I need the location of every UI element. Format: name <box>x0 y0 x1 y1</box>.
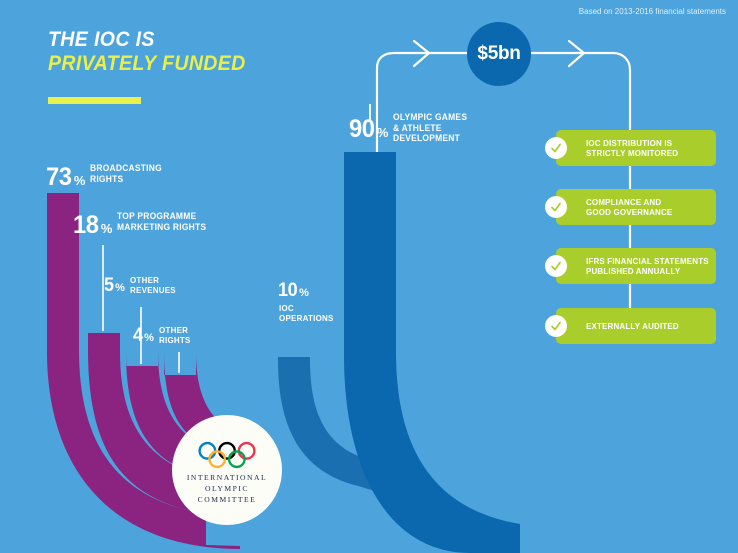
callout-broadcasting-rights: 73%BROADCASTINGRIGHTS <box>46 163 167 192</box>
total-revenue-label: $5bn <box>477 43 520 65</box>
bar-olympic-games-athlete-development <box>344 152 520 553</box>
percent-sign: % <box>101 221 113 236</box>
governance-item-label: IOC DISTRIBUTION IS STRICTLY MONITORED <box>586 138 678 159</box>
callout-ioc-operations: 10%IOCOPERATIONS <box>278 280 337 323</box>
callout-olympic-games-athlete-development: 90%OLYMPIC GAMES& ATHLETEDEVELOPMENT <box>349 112 472 144</box>
value-5: 5 <box>104 275 114 297</box>
label-line-2: REVENUES <box>130 285 176 295</box>
logo-line-3: COMMITTEE <box>198 495 257 504</box>
label-other-rights: OTHERRIGHTS <box>159 325 191 345</box>
value-18: 18 <box>73 211 98 240</box>
callout-other-rights: 4%OTHERRIGHTS <box>133 325 192 347</box>
value-10: 10 <box>278 280 297 302</box>
percent-sign: % <box>377 125 389 140</box>
governance-item-ifrs-statements[interactable]: IFRS FINANCIAL STATEMENTS PUBLISHED ANNU… <box>556 248 716 284</box>
label-ioc-operations: IOCOPERATIONS <box>279 303 334 323</box>
governance-item-label: COMPLIANCE AND GOOD GOVERNANCE <box>586 197 672 218</box>
callout-top-programme-marketing-rights: 18%TOP PROGRAMMEMARKETING RIGHTS <box>73 211 212 240</box>
label-line-2: GOOD GOVERNANCE <box>586 207 672 217</box>
check-icon <box>545 255 567 277</box>
governance-item-ioc-distribution[interactable]: IOC DISTRIBUTION IS STRICTLY MONITORED <box>556 130 716 166</box>
governance-item-label: EXTERNALLY AUDITED <box>586 321 679 332</box>
olympic-rings-icon <box>196 439 258 471</box>
ioc-logo: INTERNATIONAL OLYMPIC COMMITTEE <box>172 415 282 525</box>
label-line-1: BROADCASTING <box>90 163 162 173</box>
label-line-2: RIGHTS <box>90 174 123 184</box>
check-icon <box>545 196 567 218</box>
value-73: 73 <box>46 163 71 192</box>
label-top-programme-marketing-rights: TOP PROGRAMMEMARKETING RIGHTS <box>117 211 206 232</box>
governance-item-label: IFRS FINANCIAL STATEMENTS PUBLISHED ANNU… <box>586 256 709 277</box>
label-line-1: OLYMPIC GAMES <box>393 112 467 122</box>
label-other-revenues: OTHERREVENUES <box>130 275 176 295</box>
callout-other-revenues: 5%OTHERREVENUES <box>104 275 179 297</box>
label-line-2: PUBLISHED ANNUALLY <box>586 266 680 276</box>
logo-line-1: INTERNATIONAL <box>187 473 267 482</box>
label-line-1: IFRS FINANCIAL STATEMENTS <box>586 256 709 266</box>
label-line-1: OTHER <box>130 275 159 285</box>
percent-sign: % <box>144 332 154 344</box>
value-4: 4 <box>133 325 143 347</box>
label-line-2: OPERATIONS <box>279 313 334 323</box>
governance-item-compliance[interactable]: COMPLIANCE AND GOOD GOVERNANCE <box>556 189 716 225</box>
check-icon <box>545 137 567 159</box>
percent-sign: % <box>299 287 309 299</box>
value-90: 90 <box>349 115 374 144</box>
label-line-1: EXTERNALLY AUDITED <box>586 321 679 331</box>
title-line-1: THE IOC IS <box>48 28 246 52</box>
label-line-2: MARKETING RIGHTS <box>117 222 206 232</box>
source-note: Based on 2013-2016 financial statements <box>579 8 726 17</box>
governance-item-externally-audited[interactable]: EXTERNALLY AUDITED <box>556 308 716 344</box>
percent-sign: % <box>115 282 125 294</box>
logo-line-2: OLYMPIC <box>205 484 249 493</box>
label-line-1: IOC <box>279 303 294 313</box>
label-line-1: IOC DISTRIBUTION IS <box>586 138 672 148</box>
label-line-2: STRICTLY MONITORED <box>586 148 678 158</box>
label-line-1: COMPLIANCE AND <box>586 197 661 207</box>
check-icon <box>545 315 567 337</box>
label-line-2: RIGHTS <box>159 335 191 345</box>
infographic-canvas: THE IOC IS PRIVATELY FUNDED Based on 201… <box>0 0 738 553</box>
label-line-2: & ATHLETE <box>393 123 442 133</box>
label-line-3: DEVELOPMENT <box>393 133 460 143</box>
title-line-2: PRIVATELY FUNDED <box>48 52 246 76</box>
page-title: THE IOC IS PRIVATELY FUNDED <box>48 28 261 75</box>
label-broadcasting-rights: BROADCASTINGRIGHTS <box>90 163 162 184</box>
total-revenue-badge: $5bn <box>467 22 531 86</box>
label-line-1: OTHER <box>159 325 188 335</box>
label-olympic-games-athlete-development: OLYMPIC GAMES& ATHLETEDEVELOPMENT <box>393 112 467 144</box>
label-line-1: TOP PROGRAMME <box>117 211 196 221</box>
percent-sign: % <box>74 173 86 188</box>
title-underline-rule <box>48 97 141 104</box>
